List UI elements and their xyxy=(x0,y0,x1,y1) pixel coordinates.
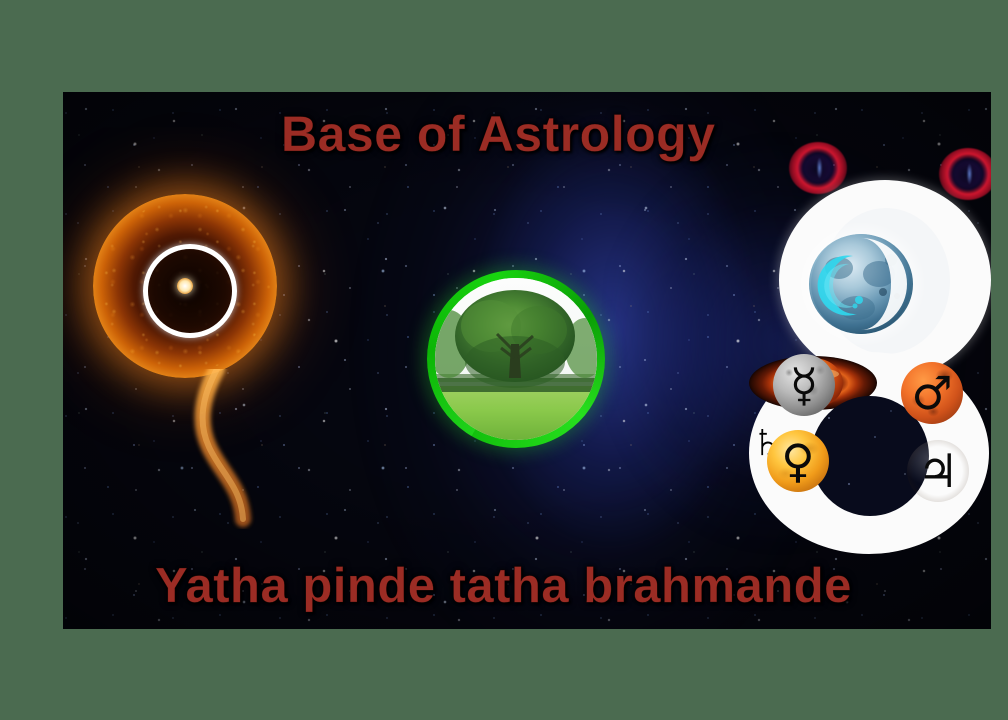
jupiter-icon: ♃ xyxy=(907,440,969,502)
ketu-nebula-icon xyxy=(939,148,991,200)
celestial-figure-eight: ☿ ♂ ♀ ♃ xyxy=(741,106,991,556)
starfield-poster: Base of Astrology xyxy=(63,92,991,629)
planet-jupiter: ♃ xyxy=(907,440,969,502)
planet-mars: ♂ xyxy=(901,362,963,424)
tree-photo xyxy=(435,278,597,440)
planet-mercury: ☿ xyxy=(773,354,835,416)
mercury-icon: ☿ xyxy=(773,354,835,416)
page-tagline: Yatha pinde tatha brahmande xyxy=(155,558,852,614)
venus-icon: ♀ xyxy=(767,430,829,492)
mars-icon: ♂ xyxy=(901,362,963,424)
sun-symbol-center-dot xyxy=(177,278,193,294)
sun-graphic xyxy=(93,194,293,394)
planets-outer-ring: ☿ ♂ ♀ ♃ xyxy=(749,352,989,554)
poster-stage: Base of Astrology xyxy=(0,0,1008,720)
moon-photo xyxy=(809,234,913,334)
planet-venus: ♀ xyxy=(767,430,829,492)
tree-graphic xyxy=(427,270,605,448)
rahu-nebula-icon xyxy=(789,142,847,194)
page-title: Base of Astrology xyxy=(281,105,716,163)
sun-tail xyxy=(189,369,279,529)
